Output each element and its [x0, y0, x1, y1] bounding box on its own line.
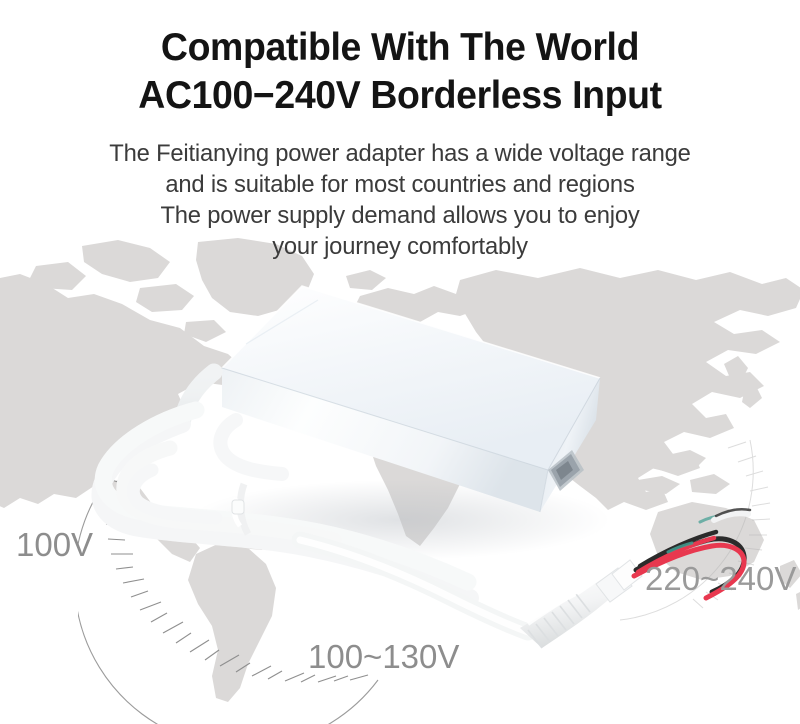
voltage-dial-arc-right: [560, 430, 800, 650]
product-banner: 100V 100~130V 220~240V: [0, 0, 800, 724]
callout-220-240v: 220~240V: [645, 562, 796, 595]
voltage-dial-arc-left: [78, 470, 418, 724]
subcopy-line-1: The Feitianying power adapter has a wide…: [12, 138, 788, 169]
headline-line-1: Compatible With The World: [16, 24, 784, 72]
headline-line-2: AC100−240V Borderless Input: [16, 72, 784, 120]
subcopy-line-3: The power supply demand allows you to en…: [12, 200, 788, 231]
callout-100-130v: 100~130V: [308, 640, 459, 673]
cable-tie-wrap: [232, 484, 248, 534]
dc-barrel-connector: [520, 560, 642, 648]
callout-100v: 100V: [16, 528, 93, 561]
subcopy-line-2: and is suitable for most countries and r…: [12, 169, 788, 200]
ac-inlet-socket: [548, 450, 584, 491]
subcopy: The Feitianying power adapter has a wide…: [0, 138, 800, 262]
subcopy-line-4: your journey comfortably: [12, 231, 788, 262]
headline: Compatible With The World AC100−240V Bor…: [0, 24, 800, 120]
world-map-background: [0, 236, 800, 706]
